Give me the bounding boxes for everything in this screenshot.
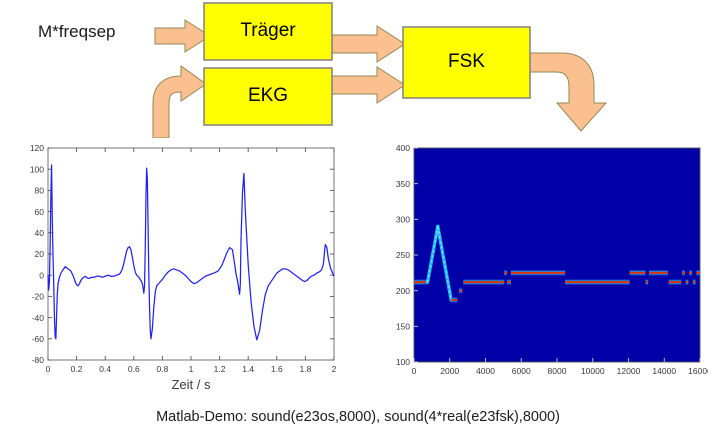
spectrogram-trace bbox=[696, 272, 700, 274]
spec-xtick-label: 6000 bbox=[512, 366, 531, 376]
ecg-xtick-label: 1 bbox=[189, 364, 194, 374]
spectrogram-trace bbox=[630, 272, 646, 274]
ecg-xaxis-label: Zeit / s bbox=[171, 377, 211, 392]
spec-ytick-label: 300 bbox=[396, 215, 410, 225]
spec-xtick-label: 14000 bbox=[652, 366, 676, 376]
caption-text: Matlab-Demo: sound(e23os,8000), sound(4*… bbox=[0, 409, 716, 425]
arrow-fsk-output-down bbox=[524, 53, 606, 131]
ecg-ytick-label: -20 bbox=[32, 292, 45, 302]
spec-ytick-label: 200 bbox=[396, 286, 410, 296]
spectrogram-field bbox=[414, 148, 700, 362]
input-label: M*freqsep bbox=[38, 22, 115, 42]
spec-xtick-label: 0 bbox=[412, 366, 417, 376]
ecg-xtick-label: 1.4 bbox=[242, 364, 254, 374]
arrow-traeger-to-fsk bbox=[332, 26, 405, 62]
spectrogram-trace bbox=[504, 272, 507, 274]
spectrogram-trace bbox=[682, 272, 685, 274]
block-label-fsk: FSK bbox=[403, 51, 530, 73]
ecg-plot-svg: -80-60-40-2002040608010012000.20.40.60.8… bbox=[14, 140, 344, 395]
ecg-ytick-label: 100 bbox=[30, 164, 44, 174]
ecg-xtick-label: 1.6 bbox=[271, 364, 283, 374]
ecg-ytick-label: 20 bbox=[35, 249, 45, 259]
spectrogram-trace bbox=[686, 281, 689, 283]
ecg-xtick-label: 2 bbox=[332, 364, 337, 374]
spec-xtick-label: 10000 bbox=[581, 366, 605, 376]
spec-xtick-label: 8000 bbox=[548, 366, 567, 376]
spectrogram-trace bbox=[459, 290, 462, 292]
chart-ecg-signal: -80-60-40-2002040608010012000.20.40.60.8… bbox=[14, 140, 344, 395]
ecg-ytick-label: -60 bbox=[32, 334, 45, 344]
ecg-xtick-label: 0.4 bbox=[99, 364, 111, 374]
spectrogram-trace bbox=[649, 272, 668, 274]
spectrogram-trace bbox=[507, 281, 511, 283]
spectrogram-trace bbox=[565, 281, 630, 283]
ecg-xtick-label: 1.8 bbox=[299, 364, 311, 374]
spectrogram-trace bbox=[645, 281, 648, 283]
ecg-ytick-label: -40 bbox=[32, 313, 45, 323]
arrow-ekg-to-fsk bbox=[332, 67, 405, 103]
block-diagram-svg bbox=[0, 0, 716, 138]
spectrogram-plot-svg: 1001502002503003504000200040006000800010… bbox=[378, 140, 708, 395]
ecg-ytick-label: 40 bbox=[35, 228, 45, 238]
spectrogram-trace bbox=[414, 281, 428, 283]
ecg-xtick-label: 0.8 bbox=[156, 364, 168, 374]
ecg-ytick-label: 80 bbox=[35, 186, 45, 196]
ecg-ytick-label: -80 bbox=[32, 355, 45, 365]
spectrogram-trace bbox=[451, 299, 457, 301]
ecg-xtick-label: 1.2 bbox=[214, 364, 226, 374]
block-label-ekg: EKG bbox=[204, 85, 332, 107]
ecg-plot-frame bbox=[48, 148, 334, 360]
ecg-xtick-label: 0 bbox=[46, 364, 51, 374]
slide-canvas: M*freqsep Träger EKG FSK -80-60-40-20020… bbox=[0, 0, 716, 441]
spectrogram-trace bbox=[511, 272, 565, 274]
spectrogram-trace bbox=[669, 281, 682, 283]
spec-xtick-label: 12000 bbox=[617, 366, 641, 376]
spec-xtick-label: 4000 bbox=[476, 366, 495, 376]
spec-xtick-label: 16000 bbox=[688, 366, 708, 376]
arrow-feedback-to-ekg bbox=[153, 66, 206, 138]
spec-ytick-label: 100 bbox=[396, 357, 410, 367]
spectrogram-trace bbox=[693, 281, 696, 283]
spec-ytick-label: 400 bbox=[396, 143, 410, 153]
spec-xtick-label: 2000 bbox=[440, 366, 459, 376]
ecg-ytick-label: 60 bbox=[35, 207, 45, 217]
spectrogram-trace bbox=[463, 281, 504, 283]
spec-ytick-label: 150 bbox=[396, 322, 410, 332]
spec-ytick-label: 350 bbox=[396, 179, 410, 189]
ecg-ytick-label: 0 bbox=[39, 270, 44, 280]
ecg-xtick-label: 0.2 bbox=[71, 364, 83, 374]
ecg-xtick-label: 0.6 bbox=[128, 364, 140, 374]
chart-fsk-spectrogram: 1001502002503003504000200040006000800010… bbox=[378, 140, 708, 395]
spec-ytick-label: 250 bbox=[396, 250, 410, 260]
block-diagram: M*freqsep Träger EKG FSK bbox=[0, 0, 716, 138]
ecg-ytick-label: 120 bbox=[30, 143, 44, 153]
spectrogram-trace bbox=[689, 272, 692, 274]
arrow-input-to-traeger bbox=[155, 20, 210, 52]
block-label-traeger: Träger bbox=[204, 20, 332, 42]
